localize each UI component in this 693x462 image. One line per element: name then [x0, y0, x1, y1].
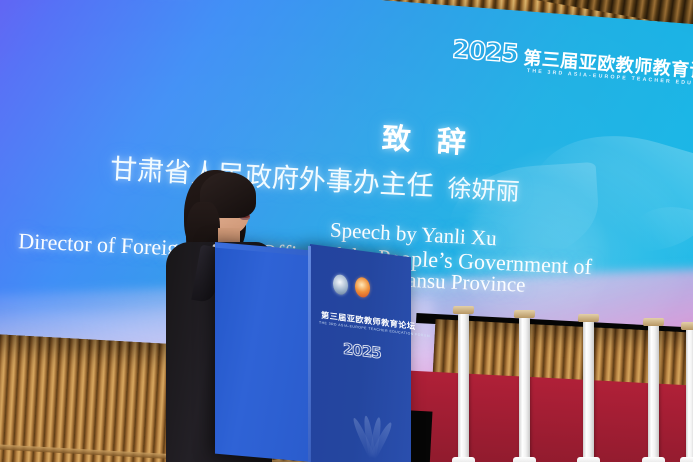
column-cap — [681, 322, 693, 330]
podium-orange-emblem-icon — [355, 276, 370, 298]
column-base — [452, 457, 475, 462]
column-cap — [514, 310, 536, 318]
stage-column-4 — [648, 324, 659, 462]
stage-column-1 — [458, 312, 469, 462]
screen-speaker-name-chinese: 徐妍丽 — [447, 174, 520, 206]
column-base — [680, 457, 693, 462]
stage-column-2 — [519, 316, 530, 462]
column-base — [642, 457, 665, 462]
podium-corner-edge — [308, 246, 311, 462]
column-base — [513, 457, 536, 462]
screen-subtitle-line3: Gansu Province — [392, 267, 526, 298]
podium-silver-emblem-icon — [333, 274, 348, 296]
stage-column-3 — [583, 320, 594, 462]
screenshot-root: L UNIVERSITY 2025 第三届亚欧教师教育论 THE 3RD ASI… — [0, 0, 693, 462]
podium-face-left — [215, 248, 311, 462]
speaking-podium: 第三届亚欧教师教育论坛 THE 3RD ASIA-EUROPE TEACHER … — [215, 242, 411, 462]
stage-column-5 — [686, 328, 693, 462]
forum-logo: 2025 第三届亚欧教师教育论 THE 3RD ASIA-EUROPE TEAC… — [451, 36, 693, 80]
column-cap — [453, 306, 475, 314]
column-cap — [578, 314, 600, 322]
podium-flower-graphic — [345, 389, 399, 462]
column-base — [577, 457, 600, 462]
column-cap — [643, 318, 665, 326]
forum-logo-year: 2025 — [451, 36, 518, 66]
screen-title-main: 致辞 — [381, 115, 493, 163]
